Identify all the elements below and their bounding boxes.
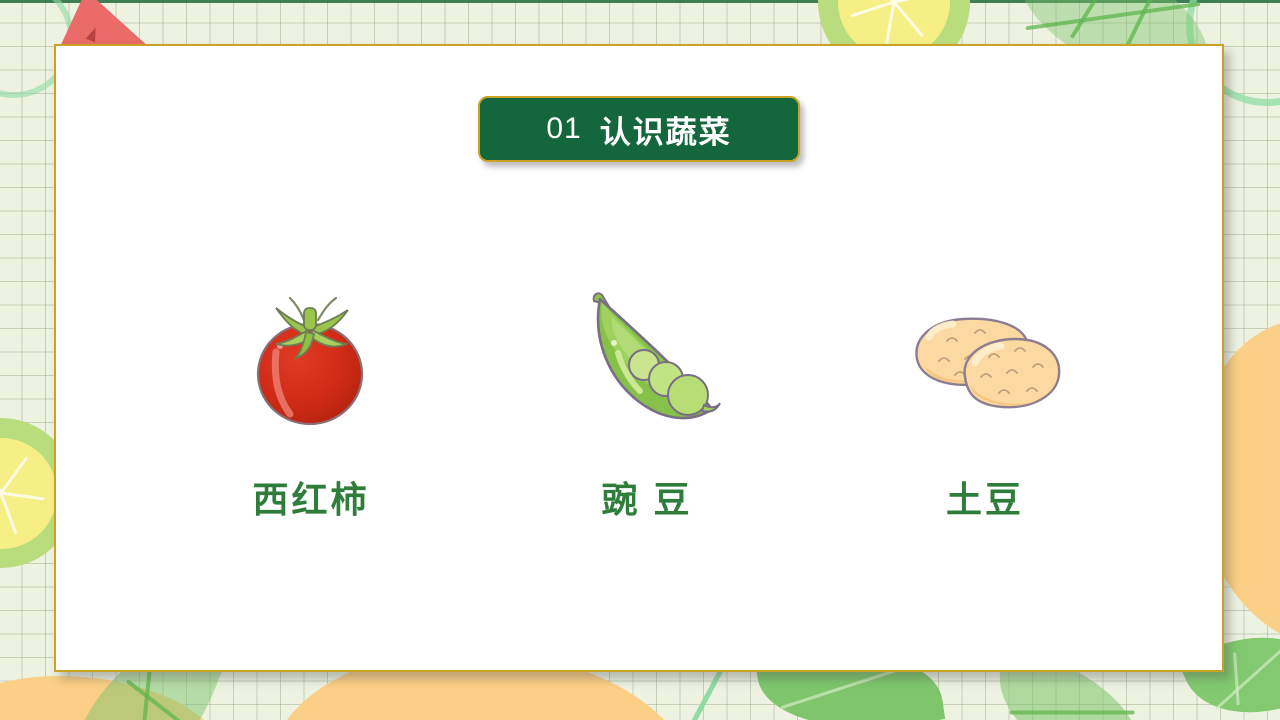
section-title-text: 认识蔬菜 — [600, 107, 732, 152]
slide-canvas: 01 认识蔬菜 — [0, 0, 1280, 720]
tomato-icon — [246, 278, 376, 443]
top-green-rule — [0, 0, 1280, 3]
pea-pod-icon — [572, 278, 722, 443]
vegetable-label-potato: 土豆 — [946, 471, 1024, 523]
section-title-banner: 01 认识蔬菜 — [478, 96, 800, 162]
vegetable-card-pea[interactable]: 豌 豆 — [490, 278, 790, 523]
section-number: 01 — [546, 112, 581, 146]
potato-icon — [903, 278, 1068, 443]
vegetable-label-pea: 豌 豆 — [601, 471, 692, 523]
vegetable-label-tomato: 西红柿 — [252, 471, 369, 523]
vegetable-card-potato[interactable]: 土豆 — [830, 278, 1130, 523]
vegetable-row: 西红柿 豌 豆 — [150, 278, 1130, 523]
vegetable-card-tomato[interactable]: 西红柿 — [150, 278, 450, 523]
